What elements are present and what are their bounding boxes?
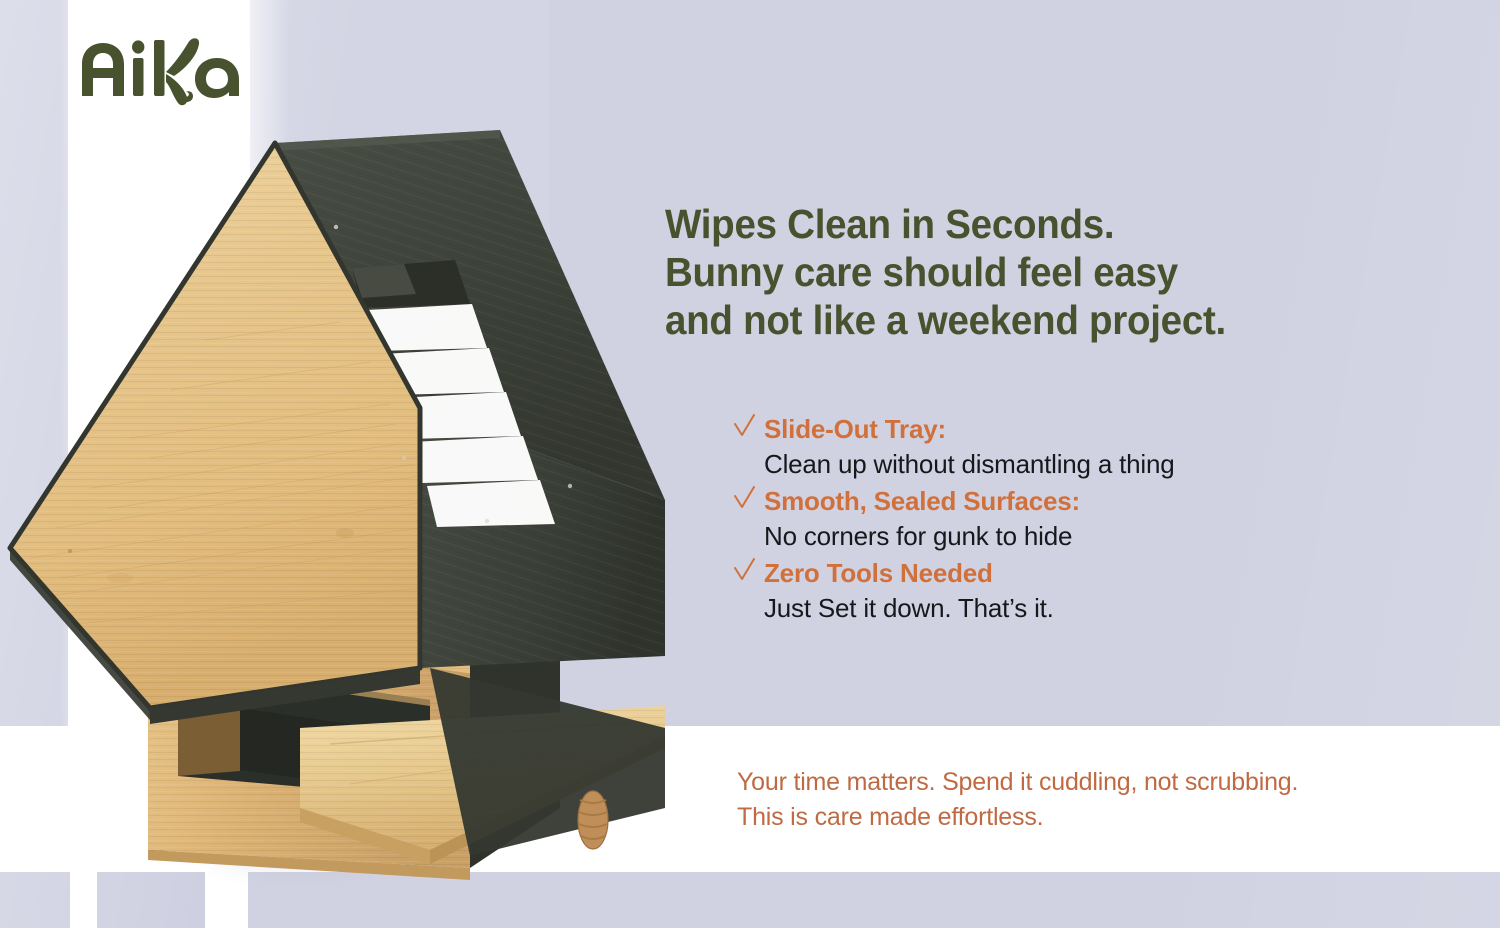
feature-description: Just Set it down. That’s it. bbox=[764, 590, 1453, 626]
feature-list: Slide-Out Tray: Clean up without dismant… bbox=[733, 412, 1453, 628]
list-item: Slide-Out Tray: Clean up without dismant… bbox=[733, 412, 1453, 482]
footer-line-2: This is care made effortless. bbox=[737, 800, 1467, 835]
feature-heading: Zero Tools Needed bbox=[733, 556, 1453, 590]
feature-heading: Smooth, Sealed Surfaces: bbox=[733, 484, 1453, 518]
feature-heading: Slide-Out Tray: bbox=[733, 412, 1453, 446]
feature-title: Smooth, Sealed Surfaces: bbox=[764, 484, 1080, 518]
check-outline-icon bbox=[733, 484, 755, 514]
headline-line-1: Wipes Clean in Seconds. bbox=[665, 200, 1379, 248]
feature-description: No corners for gunk to hide bbox=[764, 518, 1453, 554]
list-item: Zero Tools Needed Just Set it down. That… bbox=[733, 556, 1453, 626]
feature-title: Slide-Out Tray: bbox=[764, 412, 946, 446]
feature-description: Clean up without dismantling a thing bbox=[764, 446, 1453, 482]
promo-banner: Wipes Clean in Seconds. Bunny care shoul… bbox=[0, 0, 1500, 928]
check-outline-icon bbox=[733, 412, 755, 442]
product-image bbox=[0, 108, 700, 928]
headline-line-2: Bunny care should feel easy bbox=[665, 248, 1379, 296]
footer-tagline: Your time matters. Spend it cuddling, no… bbox=[737, 765, 1467, 835]
feature-title: Zero Tools Needed bbox=[764, 556, 993, 590]
footer-line-1: Your time matters. Spend it cuddling, no… bbox=[737, 765, 1467, 800]
page-title: Wipes Clean in Seconds. Bunny care shoul… bbox=[665, 200, 1379, 344]
list-item: Smooth, Sealed Surfaces: No corners for … bbox=[733, 484, 1453, 554]
brand-logo[interactable] bbox=[78, 34, 268, 106]
hutch-rope bbox=[578, 791, 608, 849]
headline-line-3: and not like a weekend project. bbox=[665, 296, 1379, 344]
check-outline-icon bbox=[733, 556, 755, 586]
